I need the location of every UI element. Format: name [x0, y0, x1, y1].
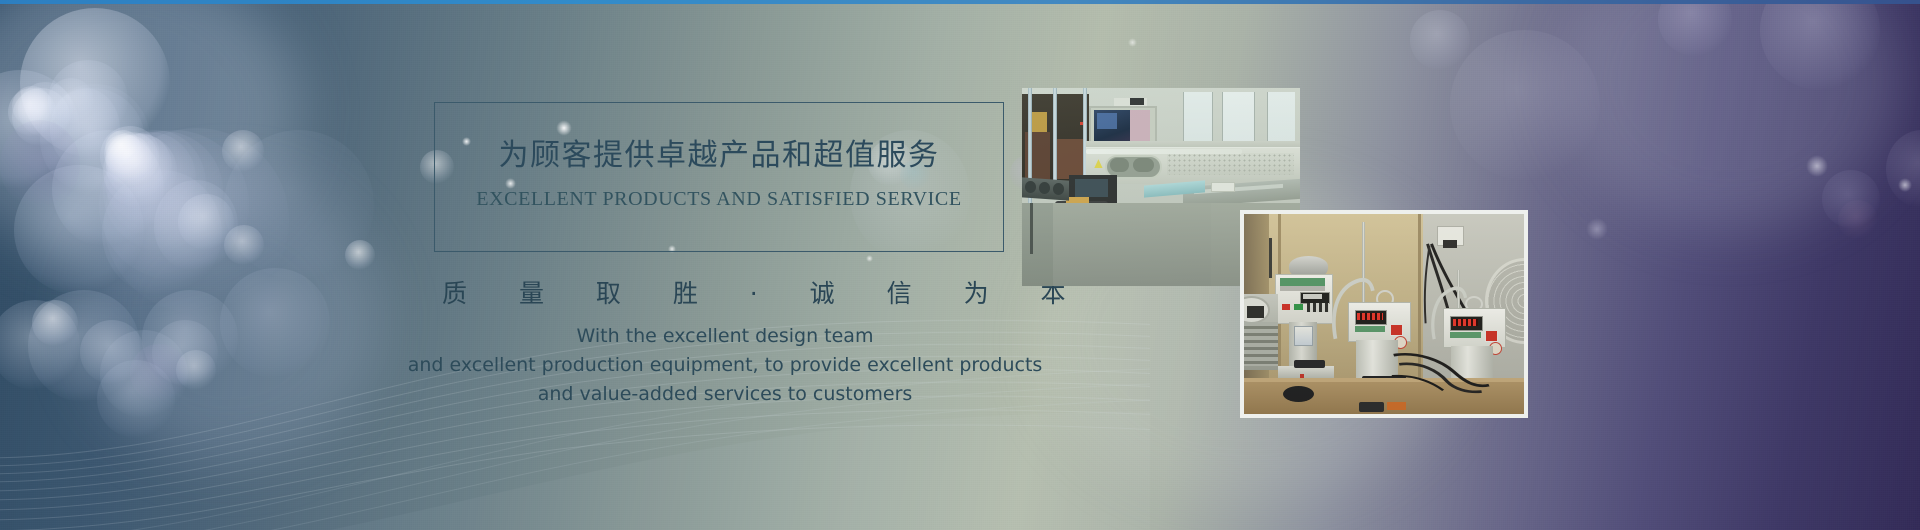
description-line-3: and value-added services to customers [330, 380, 1120, 409]
top-accent-rule [0, 0, 1920, 4]
description-paragraph: With the excellent design team and excel… [330, 322, 1120, 409]
promo-banner: 为顾客提供卓越产品和超值服务 EXCELLENT PRODUCTS AND SA… [0, 0, 1920, 530]
factory-photo-riveting-machines[interactable] [1240, 210, 1528, 418]
description-line-2: and excellent production equipment, to p… [330, 351, 1120, 380]
photo-2-scene [1244, 214, 1524, 414]
background-noise-texture [0, 0, 1920, 530]
slogan-chinese: 质 量 取 胜 · 诚 信 为 本 [420, 274, 1020, 310]
headline-chinese: 为顾客提供卓越产品和超值服务 [434, 130, 1004, 174]
photo-2-color-cast [1244, 214, 1524, 414]
headline-frame [434, 102, 1004, 252]
headline-english: EXCELLENT PRODUCTS AND SATISFIED SERVICE [434, 188, 1004, 211]
description-line-1: With the excellent design team [330, 322, 1120, 351]
